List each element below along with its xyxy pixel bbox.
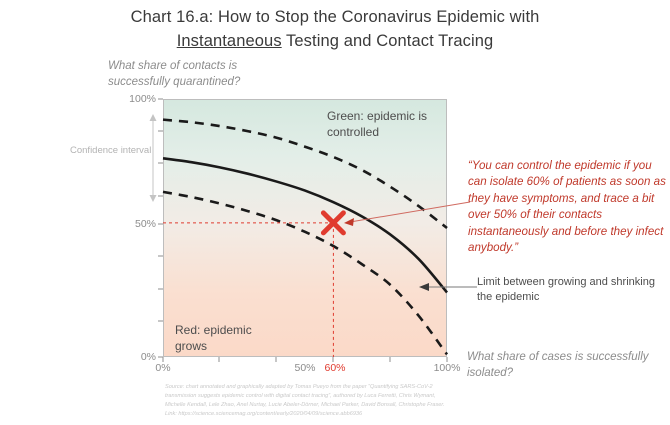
y-tick-label-100: 100% xyxy=(110,93,156,105)
source-line-3: Michelle Kendall, Lele Zhao, Anel Nurtay… xyxy=(165,401,565,410)
title-line-1: Chart 16.a: How to Stop the Coronavirus … xyxy=(0,6,670,30)
title-line-2-rest: Testing and Contact Tracing xyxy=(282,32,494,50)
source-line-4: Link: https://science.sciencemag.org/con… xyxy=(165,410,565,419)
zone-label-green: Green: epidemic is controlled xyxy=(327,108,457,140)
source-line-1: Source: chart annotated and graphically … xyxy=(165,383,565,392)
y-tick-label-50: 50% xyxy=(110,218,156,230)
source-citation: Source: chart annotated and graphically … xyxy=(165,383,565,419)
x-axis-label: What share of cases is successfully isol… xyxy=(467,350,657,381)
callout-annotation: “You can control the epidemic if you can… xyxy=(468,158,666,257)
limit-line-label: Limit between growing and shrinking the … xyxy=(477,275,657,305)
callout-leader-line xyxy=(336,200,476,230)
y-axis-label: What share of contacts is successfully q… xyxy=(108,59,288,90)
zone-label-red: Red: epidemic grows xyxy=(175,322,285,354)
source-line-2: transmission suggests epidemic control w… xyxy=(165,392,565,401)
title-emphasis: Instantaneous xyxy=(177,32,282,50)
page-title: Chart 16.a: How to Stop the Coronavirus … xyxy=(0,6,670,54)
title-line-2: Instantaneous Testing and Contact Tracin… xyxy=(0,30,670,54)
limit-leader-line xyxy=(415,281,480,293)
